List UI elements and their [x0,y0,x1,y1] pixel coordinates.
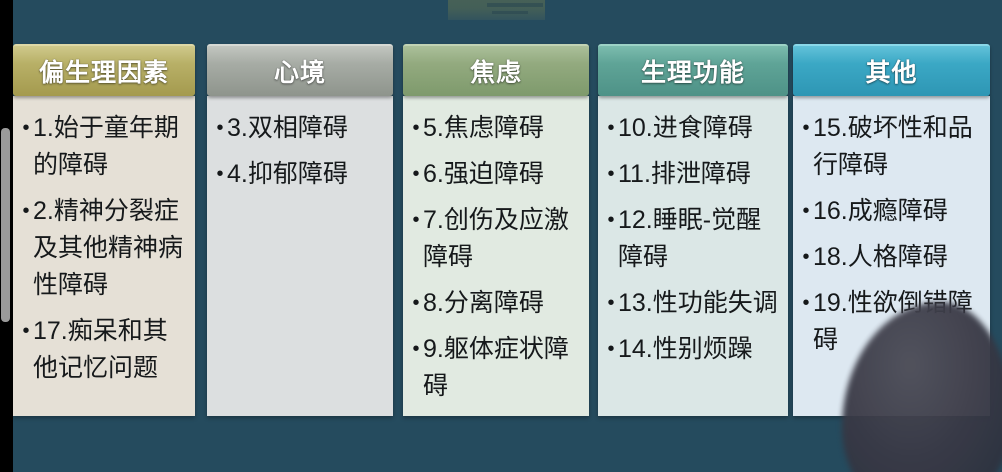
column-header-2: 心境 [207,44,393,96]
list-item[interactable]: • 17.痴呆和其他记忆问题 [19,313,189,387]
list-item-label: 9.躯体症状障碍 [423,331,583,405]
bullet-icon: • [409,202,423,238]
list-item-label: 5.焦虑障碍 [423,110,583,147]
column-body-2: • 3.双相障碍 • 4.抑郁障碍 [207,96,393,416]
column-header-label-4: 生理功能 [641,53,745,89]
column-header-label-1: 偏生理因素 [39,53,169,89]
list-item-label: 8.分离障碍 [423,285,583,322]
list-item-label: 2.精神分裂症及其他精神病性障碍 [33,193,189,304]
column-body-3: • 5.焦虑障碍 • 6.强迫障碍 • 7.创伤及应激障碍 • 8.分离障碍 • [403,96,589,416]
bullet-icon: • [19,110,33,146]
list-item[interactable]: • 3.双相障碍 [213,110,387,147]
bullet-icon: • [604,156,618,192]
list-item-label: 4.抑郁障碍 [227,156,387,193]
list-item[interactable]: • 6.强迫障碍 [409,156,583,193]
bullet-icon: • [604,331,618,367]
bullet-icon: • [799,110,813,146]
list-item[interactable]: • 13.性功能失调 [604,285,782,322]
bullet-icon: • [604,110,618,146]
column-body-1: • 1.始于童年期的障碍 • 2.精神分裂症及其他精神病性障碍 • 17.痴呆和… [13,96,195,416]
category-column-4: 生理功能 • 10.进食障碍 • 11.排泄障碍 • 12.睡眠-觉醒障碍 • … [598,44,788,416]
list-item-label: 16.成瘾障碍 [813,193,984,230]
list-item-label: 10.进食障碍 [618,110,782,147]
list-item-label: 13.性功能失调 [618,285,782,322]
list-item-label: 15.破坏性和品行障碍 [813,110,984,184]
list-item-label: 12.睡眠-觉醒障碍 [618,202,782,276]
column-header-1: 偏生理因素 [13,44,195,96]
bullet-icon: • [19,313,33,349]
list-item[interactable]: • 15.破坏性和品行障碍 [799,110,984,184]
list-item[interactable]: • 2.精神分裂症及其他精神病性障碍 [19,193,189,304]
column-header-4: 生理功能 [598,44,788,96]
list-item[interactable]: • 14.性别烦躁 [604,331,782,368]
list-item[interactable]: • 12.睡眠-觉醒障碍 [604,202,782,276]
bullet-icon: • [409,110,423,146]
column-header-3: 焦虑 [403,44,589,96]
column-header-label-3: 焦虑 [470,53,522,89]
column-header-label-2: 心境 [274,53,326,89]
column-body-4: • 10.进食障碍 • 11.排泄障碍 • 12.睡眠-觉醒障碍 • 13.性功… [598,96,788,416]
bullet-icon: • [604,285,618,321]
list-item-label: 3.双相障碍 [227,110,387,147]
list-item[interactable]: • 18.人格障碍 [799,239,984,276]
list-item[interactable]: • 11.排泄障碍 [604,156,782,193]
list-item-label: 7.创伤及应激障碍 [423,202,583,276]
category-column-1: 偏生理因素 • 1.始于童年期的障碍 • 2.精神分裂症及其他精神病性障碍 • … [13,44,195,416]
category-column-3: 焦虑 • 5.焦虑障碍 • 6.强迫障碍 • 7.创伤及应激障碍 • 8.分离障… [403,44,589,416]
bullet-icon: • [799,193,813,229]
list-item[interactable]: • 16.成瘾障碍 [799,193,984,230]
bullet-icon: • [213,110,227,146]
bullet-icon: • [799,285,813,321]
bullet-icon: • [799,239,813,275]
bullet-icon: • [409,285,423,321]
bullet-icon: • [409,156,423,192]
list-item[interactable]: • 8.分离障碍 [409,285,583,322]
list-item[interactable]: • 5.焦虑障碍 [409,110,583,147]
list-item-label: 11.排泄障碍 [618,156,782,193]
column-header-5: 其他 [793,44,990,96]
list-item[interactable]: • 7.创伤及应激障碍 [409,202,583,276]
list-item[interactable]: • 9.躯体症状障碍 [409,331,583,405]
list-item[interactable]: • 4.抑郁障碍 [213,156,387,193]
bullet-icon: • [409,331,423,367]
bullet-icon: • [604,202,618,238]
slide-canvas: 偏生理因素 • 1.始于童年期的障碍 • 2.精神分裂症及其他精神病性障碍 • … [0,0,1002,472]
bullet-icon: • [213,156,227,192]
list-item-label: 17.痴呆和其他记忆问题 [33,313,189,387]
list-item-label: 18.人格障碍 [813,239,984,276]
list-item-label: 14.性别烦躁 [618,331,782,368]
category-column-2: 心境 • 3.双相障碍 • 4.抑郁障碍 [207,44,393,416]
list-item[interactable]: • 1.始于童年期的障碍 [19,110,189,184]
column-header-label-5: 其他 [865,53,917,89]
list-item[interactable]: • 10.进食障碍 [604,110,782,147]
bullet-icon: • [19,193,33,229]
list-item-label: 6.强迫障碍 [423,156,583,193]
list-item-label: 1.始于童年期的障碍 [33,110,189,184]
scrollbar-thumb[interactable] [1,128,10,322]
